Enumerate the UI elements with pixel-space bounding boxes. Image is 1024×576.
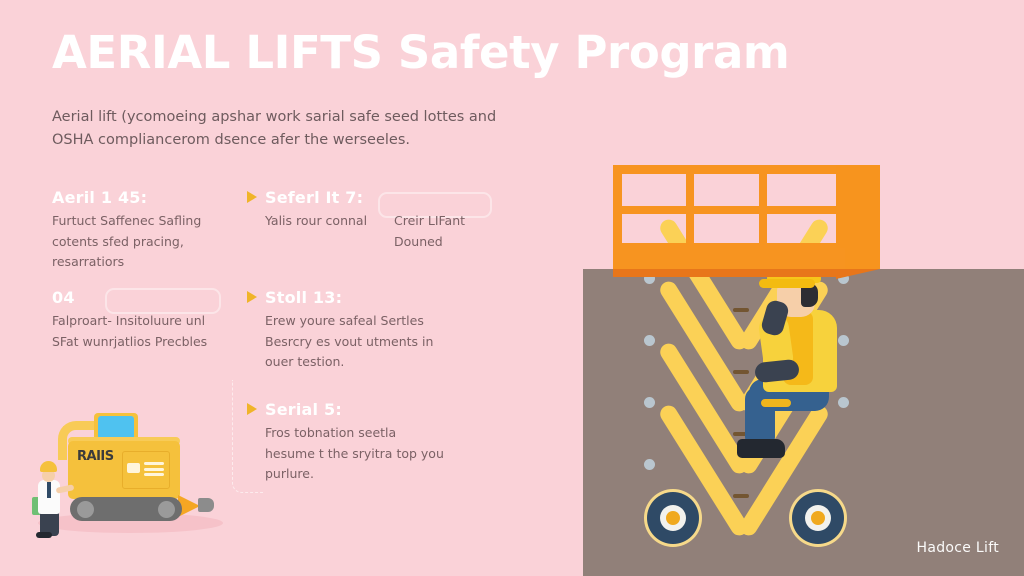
drilling-machine-illustration: RAIIS — [30, 405, 230, 540]
triangle-bullet-icon — [247, 403, 257, 415]
list-item-column: Creir LIFant Douned — [394, 211, 499, 252]
scissor-pin — [644, 459, 655, 470]
hard-hat-brim — [759, 279, 815, 288]
inspector-figure — [30, 461, 70, 536]
list-item[interactable]: Aeril 1 45: Furtuct Saffenec Safling cot… — [52, 188, 217, 273]
lift-wheel — [792, 492, 844, 544]
machine-panel-lines — [144, 462, 164, 465]
list-item-body: Fros tobnation seetla hesume t the sryit… — [265, 423, 445, 485]
hard-hat-icon — [40, 461, 57, 472]
decorative-connector — [232, 380, 263, 493]
list-item-body: Erew youre safeal Sertles Besrcry es vou… — [265, 311, 450, 373]
worker-knee-pad — [761, 399, 791, 407]
triangle-bullet-icon — [247, 291, 257, 303]
list-item-column: Yalis rour connal — [265, 211, 370, 252]
list-item[interactable]: Serial 5: Fros tobnation seetla hesume t… — [265, 400, 445, 485]
lift-wheel — [647, 492, 699, 544]
scissor-lift — [583, 0, 1024, 576]
list-item[interactable]: Seferl It 7: Yalis rour connal Creir LIF… — [265, 188, 515, 252]
page-title: AERIAL LIFTS Safety Program — [52, 26, 789, 79]
machine-panel-icon — [127, 463, 140, 473]
triangle-bullet-icon — [247, 191, 257, 203]
bolt-mark — [733, 494, 749, 498]
list-item-body: Yalis rour connal Creir LIFant Douned — [265, 211, 515, 252]
lift-platform — [613, 165, 845, 277]
slide-root: Hadoce Lift AERIAL LIFTS Safety Program … — [0, 0, 1024, 576]
worker-boot — [737, 439, 785, 458]
rail-mid-bar — [613, 206, 845, 214]
inspector-tie — [47, 482, 51, 498]
list-item-heading: Aeril 1 45: — [52, 188, 217, 207]
rail-top-bar — [613, 165, 845, 174]
illustration-caption: Hadoce Lift — [917, 540, 999, 556]
machine-wheel — [158, 501, 175, 518]
platform-deck-shadow — [613, 269, 845, 277]
page-title-light: Safety Program — [398, 26, 790, 79]
page-subtitle: Aerial lift (ycomoeing apshar work saria… — [52, 106, 502, 153]
list-item-body: Falproart- Insitoluure unl SFat wunrjatl… — [52, 311, 227, 352]
machine-drill-tip — [198, 498, 214, 512]
scissor-pin — [644, 335, 655, 346]
worker-figure — [739, 253, 859, 438]
aerial-lift-illustration: Hadoce Lift — [583, 0, 1024, 576]
page-title-bold: AERIAL LIFTS — [52, 26, 383, 79]
list-item-heading: 04 — [52, 288, 227, 307]
list-item-heading: Seferl It 7: — [265, 188, 515, 207]
scissor-pin — [644, 397, 655, 408]
list-item-heading: Serial 5: — [265, 400, 445, 419]
list-item-heading: Stoll 13: — [265, 288, 450, 307]
list-item[interactable]: 04 Falproart- Insitoluure unl SFat wunrj… — [52, 288, 227, 352]
inspector-shoe — [36, 532, 52, 538]
list-item[interactable]: Stoll 13: Erew youre safeal Sertles Besr… — [265, 288, 450, 373]
machine-wheel — [77, 501, 94, 518]
list-item-body: Furtuct Saffenec Safling cotents sfed pr… — [52, 211, 217, 273]
machine-label: RAIIS — [77, 449, 114, 464]
